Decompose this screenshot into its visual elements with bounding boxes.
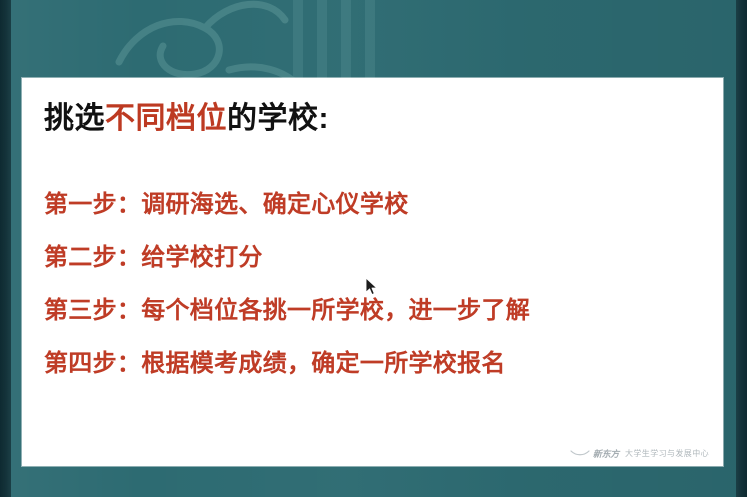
brand-mark: 新东方	[570, 447, 619, 460]
steps-list: 第一步：调研海选、确定心仪学校 第二步：给学校打分 第三步：每个档位各挑一所学校…	[44, 178, 704, 390]
step-item-3: 第三步：每个档位各挑一所学校，进一步了解	[44, 284, 704, 337]
page-title: 挑选不同档位的学校:	[44, 102, 329, 135]
step-item-1: 第一步：调研海选、确定心仪学校	[44, 178, 704, 231]
slide-content-card: 挑选不同档位的学校: 第一步：调研海选、确定心仪学校 第二步：给学校打分 第三步…	[22, 78, 723, 466]
brand-name-text: 大学生学习与发展中心	[625, 448, 709, 459]
letterbox-strip-left	[0, 0, 11, 497]
swoosh-icon	[570, 450, 590, 458]
brand-mark-text: 新东方	[593, 447, 619, 460]
page-title-lead: 挑选	[44, 102, 105, 135]
brand-logo: 新东方 大学生学习与发展中心	[570, 447, 709, 460]
page-title-accent: 不同档位	[105, 102, 227, 135]
step-item-4: 第四步：根据模考成绩，确定一所学校报名	[44, 337, 704, 390]
letterbox-strip-right	[736, 0, 747, 497]
page-title-tail: 的学校:	[227, 102, 329, 135]
step-item-2: 第二步：给学校打分	[44, 231, 704, 284]
presentation-slide: 挑选不同档位的学校: 第一步：调研海选、确定心仪学校 第二步：给学校打分 第三步…	[0, 0, 747, 497]
